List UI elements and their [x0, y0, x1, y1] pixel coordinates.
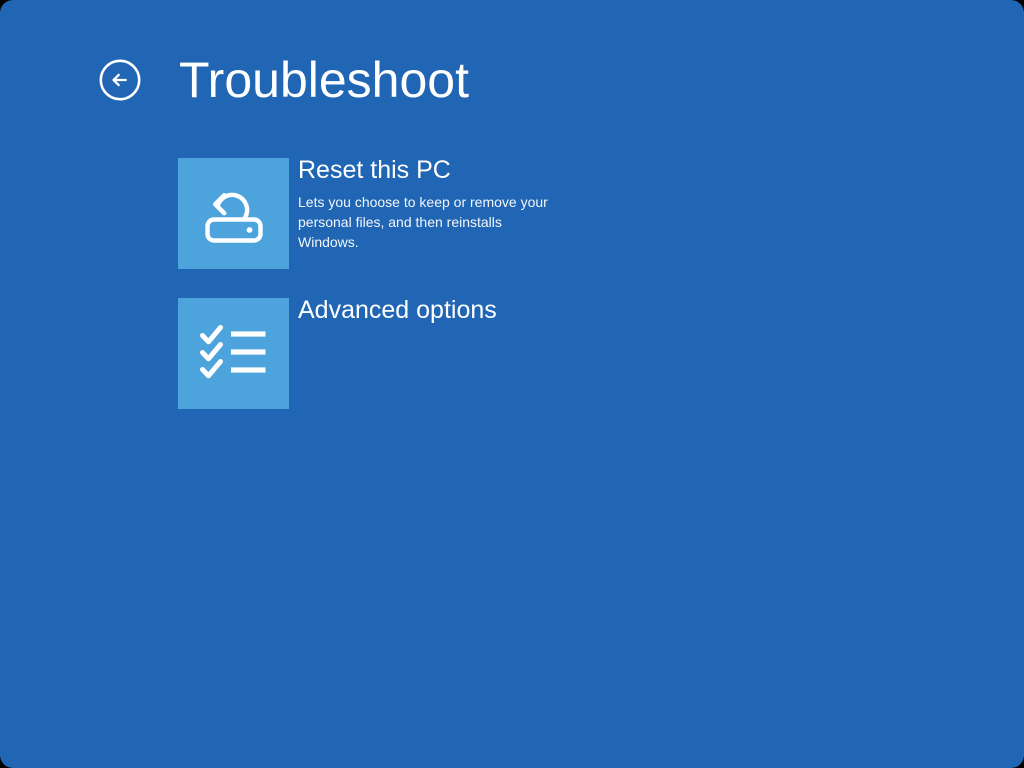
- option-text: Reset this PC Lets you choose to keep or…: [298, 154, 558, 252]
- pc-reset-icon: [197, 177, 271, 251]
- option-label: Advanced options: [298, 294, 558, 326]
- option-reset-this-pc[interactable]: Reset this PC Lets you choose to keep or…: [178, 158, 878, 269]
- checklist-icon: [200, 324, 268, 384]
- option-text: Advanced options: [298, 294, 558, 326]
- recovery-screen: Troubleshoot Reset this PC Lets you ch: [0, 0, 1024, 768]
- option-tile: [178, 298, 289, 409]
- option-label: Reset this PC: [298, 154, 558, 186]
- header: Troubleshoot: [0, 0, 1024, 150]
- option-tile: [178, 158, 289, 269]
- options-list: Reset this PC Lets you choose to keep or…: [178, 158, 878, 438]
- option-description: Lets you choose to keep or remove your p…: [298, 192, 558, 252]
- back-arrow-circle-icon: [99, 59, 141, 101]
- page-title: Troubleshoot: [179, 47, 469, 113]
- option-advanced-options[interactable]: Advanced options: [178, 298, 878, 409]
- back-button[interactable]: [99, 59, 141, 101]
